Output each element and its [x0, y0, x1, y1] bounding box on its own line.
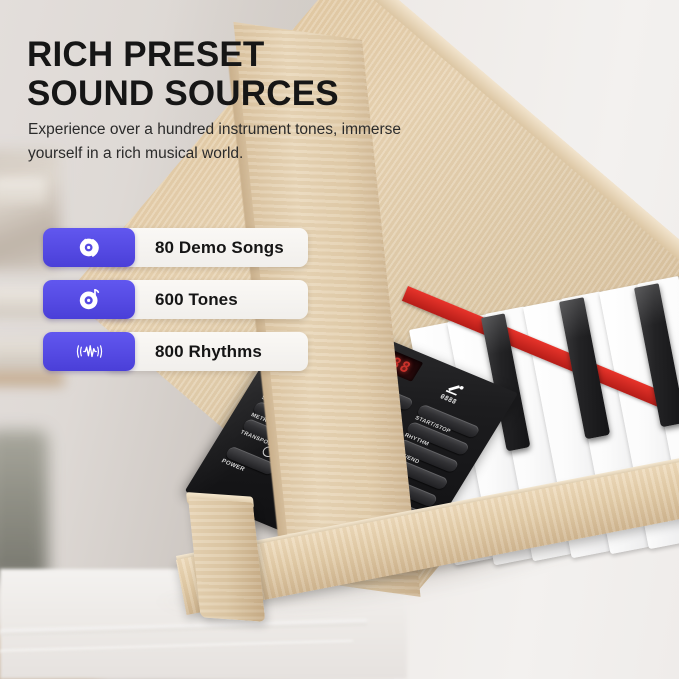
record-music-note-icon — [76, 286, 103, 313]
feature-badge-tones: 600 Tones — [43, 280, 308, 319]
feature-badge-label: 80 Demo Songs — [105, 228, 308, 267]
product-marketing-image: 888 DIGITAL PIANO 0888 DEMO TIMBRE START… — [0, 0, 679, 679]
headline-line-1: RICH PRESET — [27, 35, 265, 74]
feature-badge-rhythms: 800 Rhythms — [43, 332, 308, 371]
page-title: RICH PRESET SOUND SOURCES — [27, 36, 427, 113]
feature-badge-list: 80 Demo Songs 600 Tones — [43, 228, 308, 384]
headline-line-2: SOUND SOURCES — [27, 75, 427, 114]
subtitle-text: Experience over a hundred instrument ton… — [28, 118, 448, 166]
feature-badge-label: 800 Rhythms — [105, 332, 308, 371]
feature-badge-demo-songs: 80 Demo Songs — [43, 228, 308, 267]
badge-icon-container — [43, 332, 135, 371]
cabinet-end-cap — [188, 498, 265, 622]
vinyl-record-icon — [76, 234, 103, 261]
badge-icon-container — [43, 228, 135, 267]
badge-icon-container — [43, 280, 135, 319]
feature-badge-label: 600 Tones — [105, 280, 308, 319]
sound-wave-icon — [76, 338, 103, 365]
manufacturer-logo: 0888 — [430, 374, 476, 411]
